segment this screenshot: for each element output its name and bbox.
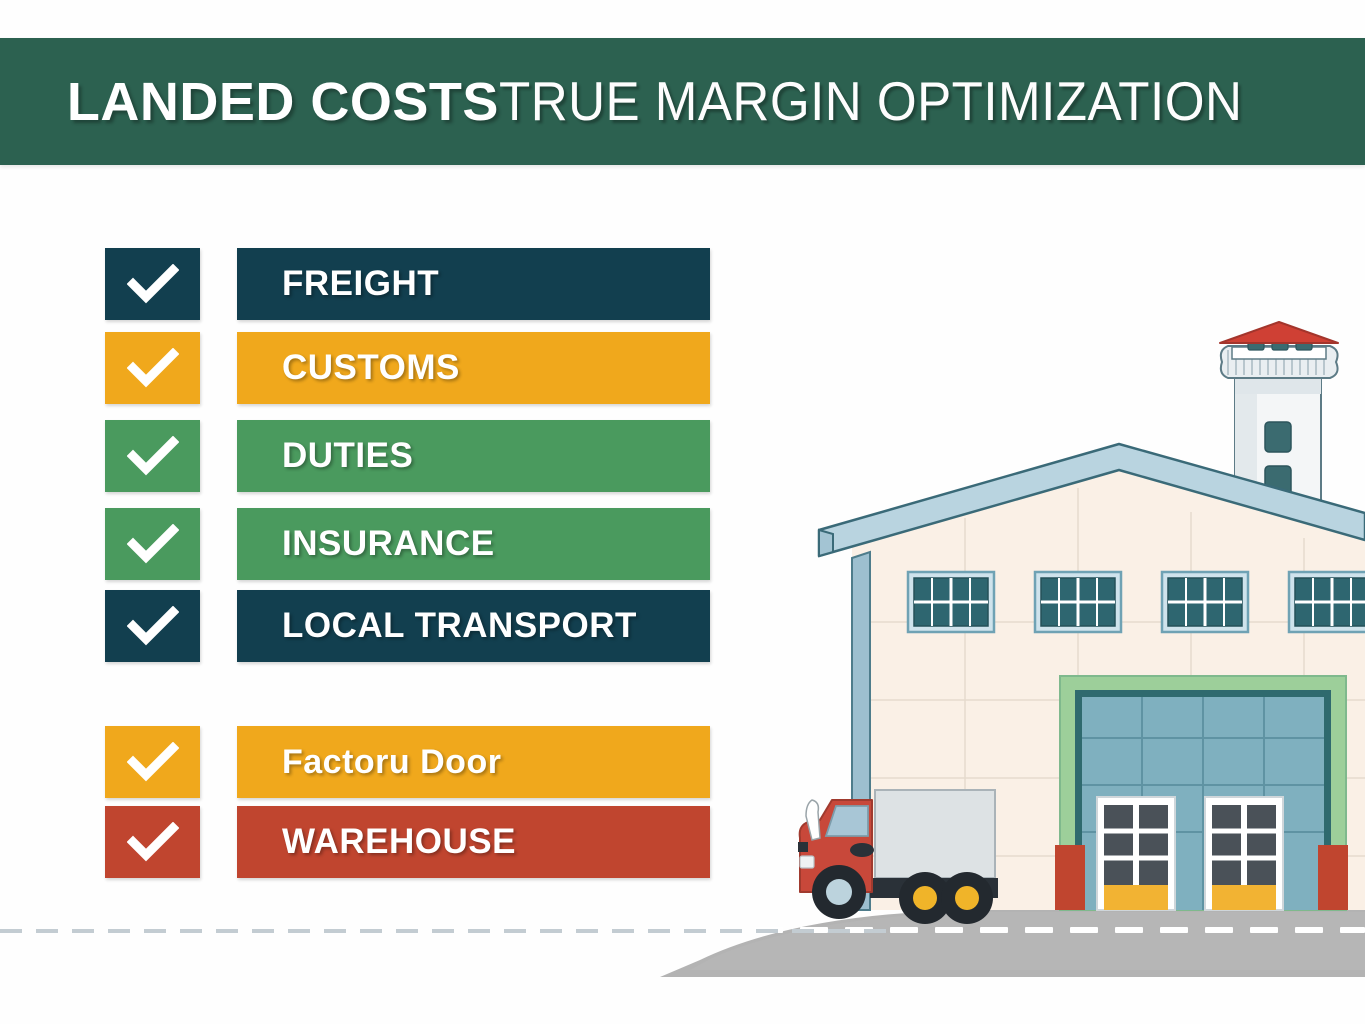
label-local-transport: LOCAL TRANSPORT (282, 606, 637, 646)
infographic-canvas: LANDED COSTS TRUE MARGIN OPTIMIZATION FR… (0, 0, 1365, 1024)
checklist-row-local-transport[interactable]: LOCAL TRANSPORT (105, 590, 710, 662)
label-bar-warehouse[interactable]: WAREHOUSE (237, 806, 710, 878)
building-windows (908, 572, 1365, 632)
label-customs: CUSTOMS (282, 348, 460, 388)
checkbox-customs[interactable] (105, 332, 200, 404)
check-icon (127, 264, 179, 304)
label-bar-local-transport[interactable]: LOCAL TRANSPORT (237, 590, 710, 662)
road (660, 910, 1365, 977)
label-insurance: INSURANCE (282, 524, 495, 564)
checklist-row-freight[interactable]: FREIGHT (105, 248, 710, 320)
check-icon (127, 348, 179, 388)
bollard-right (1318, 845, 1348, 910)
label-duties: DUTIES (282, 436, 413, 476)
checkbox-freight[interactable] (105, 248, 200, 320)
label-bar-factory-door[interactable]: Factoru Door (237, 726, 710, 798)
delivery-truck (798, 790, 998, 924)
dock-door-right (1205, 797, 1283, 910)
bollard-left (1055, 845, 1085, 910)
checkbox-insurance[interactable] (105, 508, 200, 580)
checkbox-factory-door[interactable] (105, 726, 200, 798)
label-warehouse: WAREHOUSE (282, 822, 516, 862)
label-freight: FREIGHT (282, 264, 439, 304)
label-bar-freight[interactable]: FREIGHT (237, 248, 710, 320)
label-bar-customs[interactable]: CUSTOMS (237, 332, 710, 404)
warehouse-building (819, 444, 1365, 910)
check-icon (127, 436, 179, 476)
check-icon (127, 606, 179, 646)
checklist-row-duties[interactable]: DUTIES (105, 420, 710, 492)
label-bar-duties[interactable]: DUTIES (237, 420, 710, 492)
checkbox-warehouse[interactable] (105, 806, 200, 878)
checklist-row-warehouse[interactable]: WAREHOUSE (105, 806, 710, 878)
label-bar-insurance[interactable]: INSURANCE (237, 508, 710, 580)
observation-tower (1220, 322, 1338, 552)
checklist: FREIGHT CUSTOMS DUTIES (0, 0, 760, 1024)
checkbox-local-transport[interactable] (105, 590, 200, 662)
loading-dock (1055, 676, 1348, 910)
checklist-row-insurance[interactable]: INSURANCE (105, 508, 710, 580)
checklist-row-factory-door[interactable]: Factoru Door (105, 726, 710, 798)
check-icon (127, 524, 179, 564)
check-icon (127, 742, 179, 782)
check-icon (127, 822, 179, 862)
checkbox-duties[interactable] (105, 420, 200, 492)
dock-door-left (1097, 797, 1175, 910)
label-factory-door: Factoru Door (282, 743, 501, 782)
checklist-row-customs[interactable]: CUSTOMS (105, 332, 710, 404)
